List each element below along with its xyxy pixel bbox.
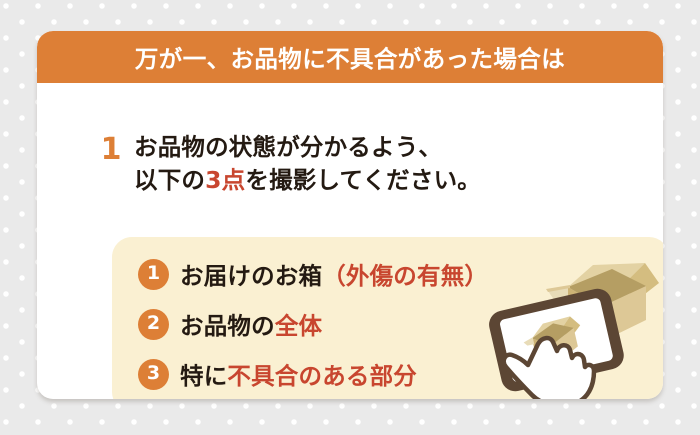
list-item-1-accent: （外傷の有無） — [322, 262, 488, 290]
list-item-text-1: お届けのお箱（外傷の有無） — [180, 257, 488, 291]
step-line-two-prefix: 以下の — [134, 166, 205, 194]
step-line-two-accent: 3点 — [205, 166, 245, 194]
list-item: 3 特に不具合のある部分 — [138, 349, 488, 399]
list-item-3-prefix: 特に — [180, 362, 227, 390]
list-item-1-prefix: お届けのお箱 — [180, 262, 322, 290]
step-line-two: 以下の3点を撮影してください。 — [134, 164, 481, 197]
photo-list: 1 お届けのお箱（外傷の有無） 2 お品物の全体 3 特に不具合のある部分 — [138, 249, 488, 399]
step-line-one: お品物の状態が分かるよう、 — [134, 131, 481, 164]
photo-list-panel: 1 お届けのお箱（外傷の有無） 2 お品物の全体 3 特に不具合のある部分 — [112, 237, 663, 399]
photo-instruction-illustration — [460, 241, 663, 399]
header-band: 万が一、お品物に不具合があった場合は — [37, 31, 663, 83]
step-text-group: お品物の状態が分かるよう、 以下の3点を撮影してください。 — [134, 131, 481, 198]
list-item-text-2: お品物の全体 — [180, 307, 322, 341]
page-title: 万が一、お品物に不具合があった場合は — [135, 40, 565, 74]
page-background: 万が一、お品物に不具合があった場合は 1 お品物の状態が分かるよう、 以下の3点… — [0, 0, 700, 435]
list-item-2-accent: 全体 — [275, 312, 322, 340]
info-card: 万が一、お品物に不具合があった場合は 1 お品物の状態が分かるよう、 以下の3点… — [37, 31, 663, 399]
list-item: 1 お届けのお箱（外傷の有無） — [138, 249, 488, 299]
list-badge-2: 2 — [138, 309, 169, 340]
step-line-two-suffix: を撮影してください。 — [245, 166, 481, 194]
list-badge-3: 3 — [138, 359, 169, 390]
step-number: 1 — [98, 135, 124, 165]
list-item: 2 お品物の全体 — [138, 299, 488, 349]
list-item-2-prefix: お品物の — [180, 312, 275, 340]
list-item-3-accent: 不具合のある部分 — [227, 362, 417, 390]
list-item-text-3: 特に不具合のある部分 — [180, 357, 417, 391]
list-badge-1: 1 — [138, 259, 169, 290]
step-one-block: 1 お品物の状態が分かるよう、 以下の3点を撮影してください。 — [37, 83, 663, 195]
